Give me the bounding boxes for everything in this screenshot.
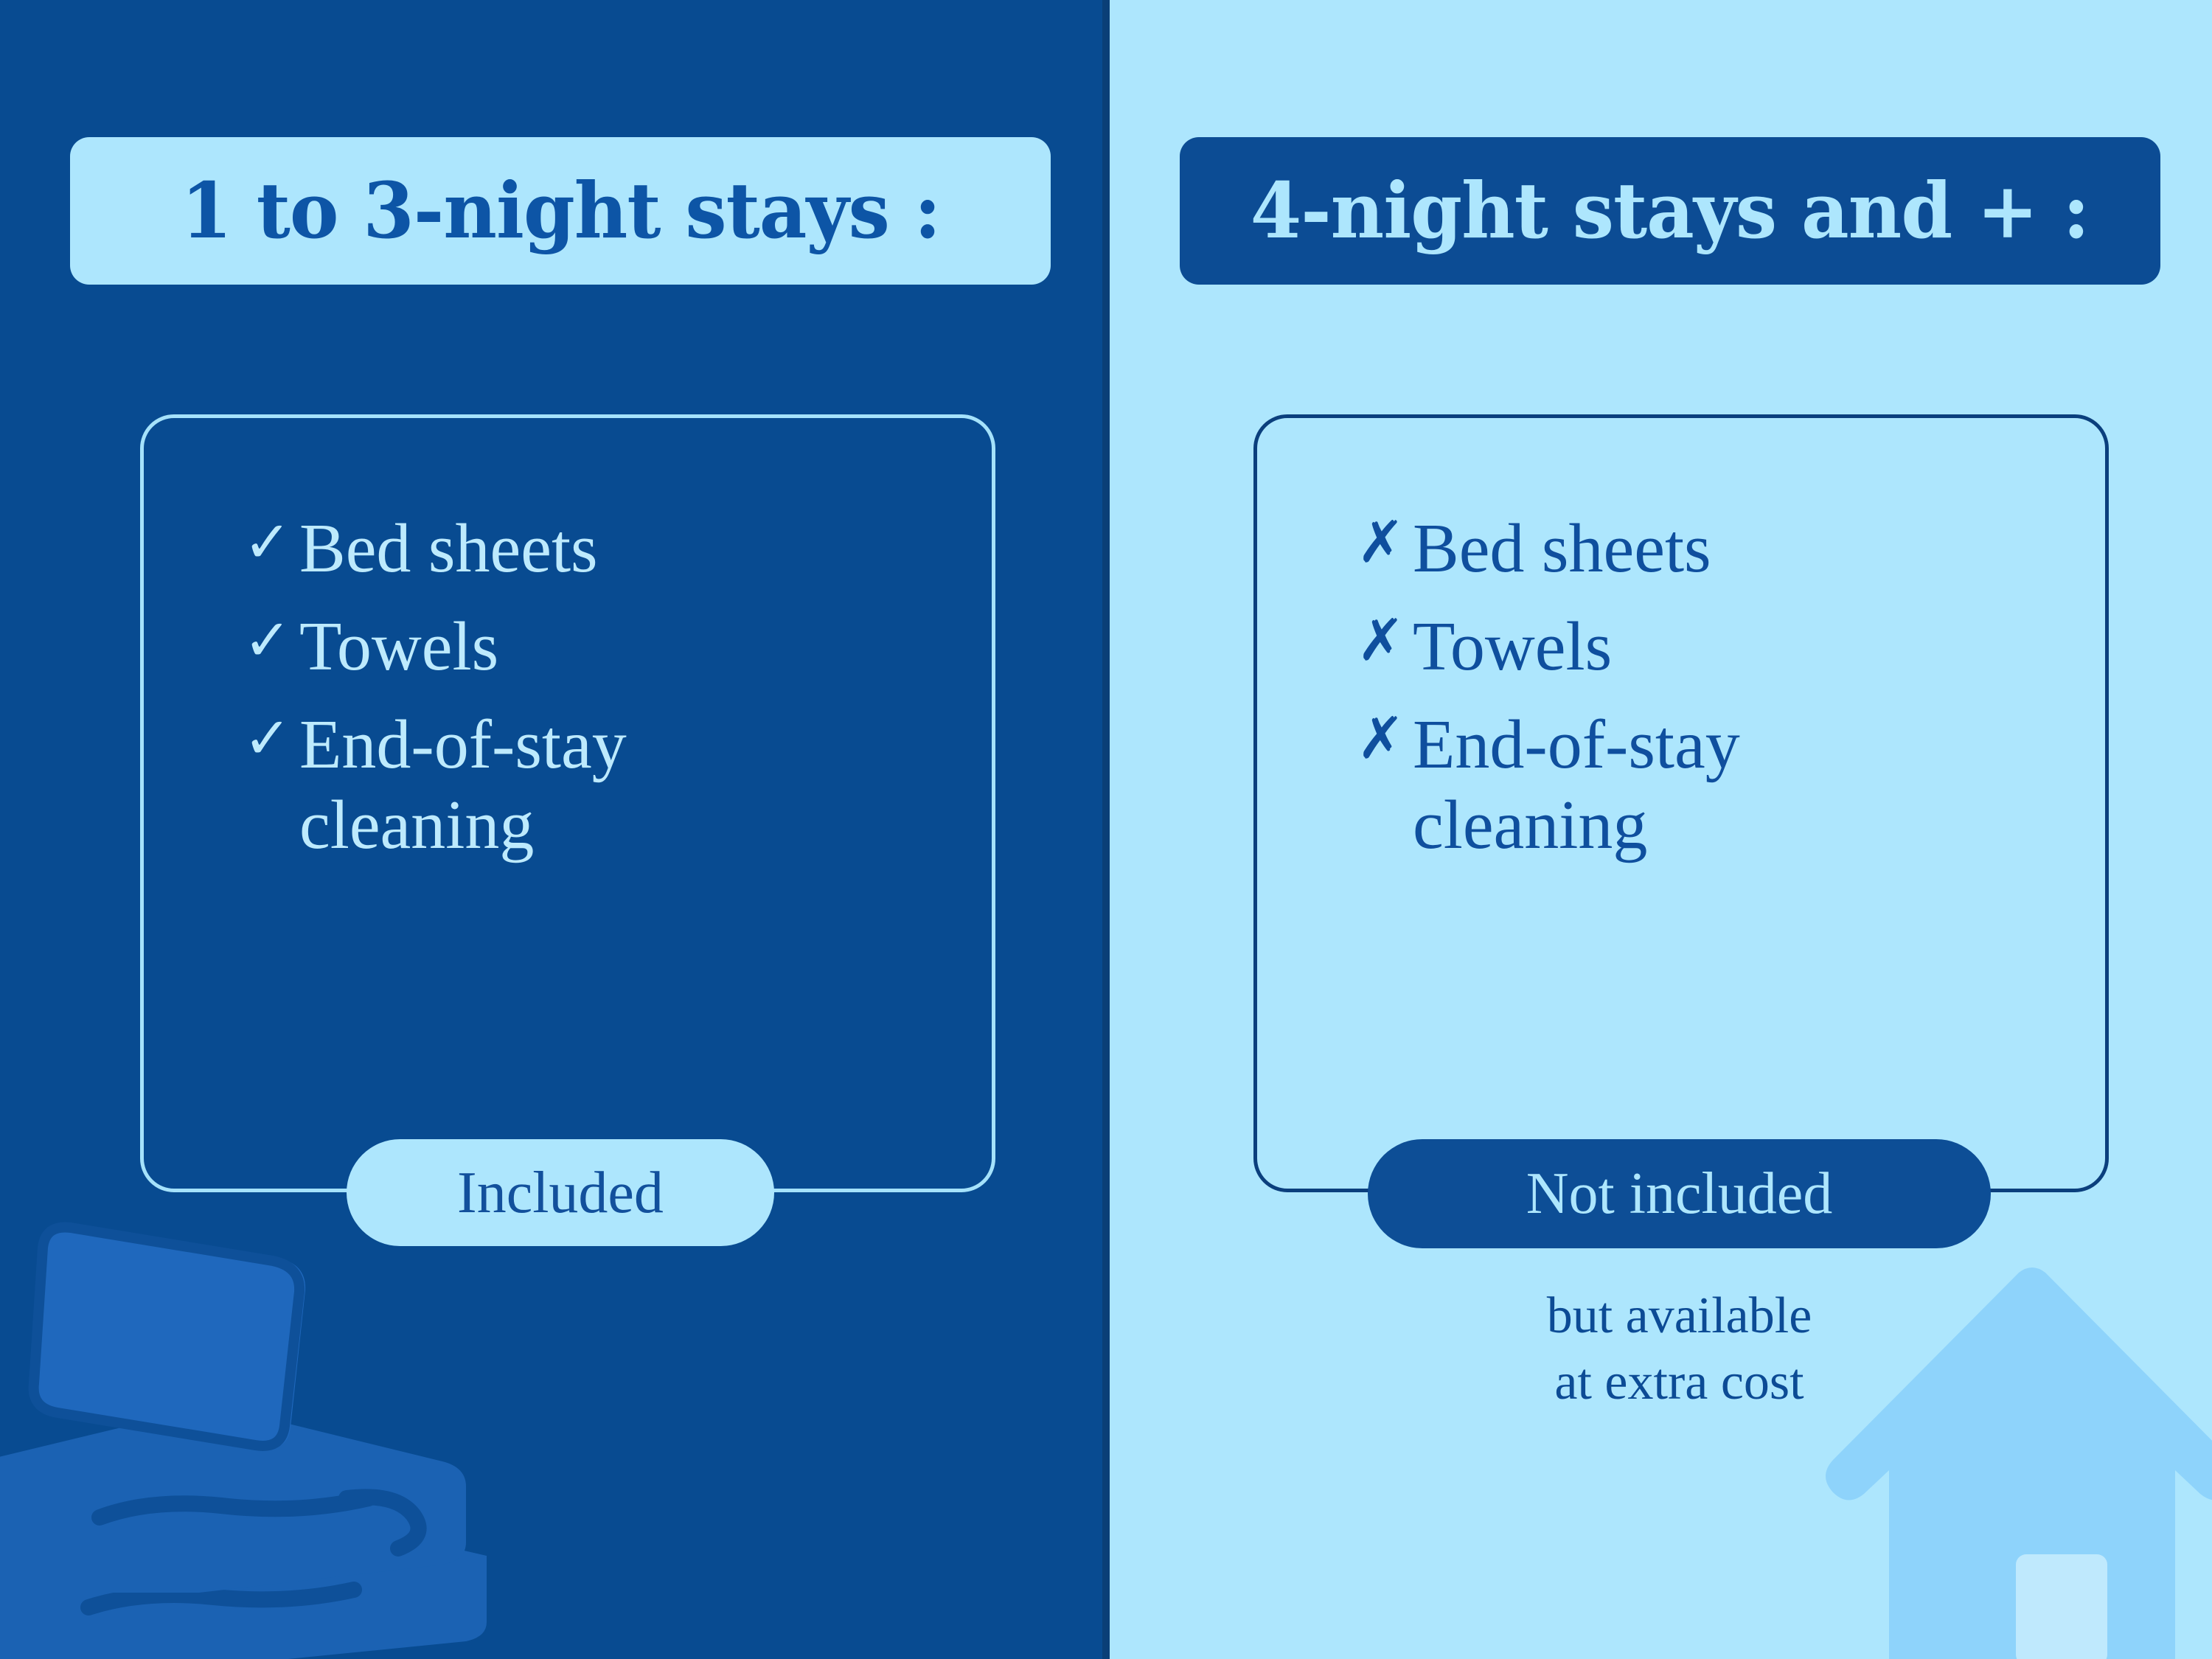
folded-linens-pillow-icon bbox=[0, 1209, 487, 1659]
list-item-label: Towels bbox=[1413, 607, 1612, 687]
header-title-left: 1 to 3-night stays : bbox=[181, 173, 940, 249]
feature-list-not-included: ✗ Bed sheets ✗ Towels ✗ End-of-stay clea… bbox=[1357, 509, 2065, 883]
cross-icon: ✗ bbox=[1357, 705, 1413, 773]
infographic-canvas: 1 to 3-night stays : ✓ Bed sheets ✓ Towe… bbox=[0, 0, 2212, 1659]
check-icon: ✓ bbox=[243, 705, 299, 773]
feature-list-included: ✓ Bed sheets ✓ Towels ✓ End-of-stay clea… bbox=[243, 509, 951, 883]
status-badge-not-included: Not included bbox=[1368, 1139, 1991, 1248]
list-item-label: End-of-stay cleaning bbox=[299, 705, 627, 866]
panel-short-stays: 1 to 3-night stays : ✓ Bed sheets ✓ Towe… bbox=[0, 0, 1110, 1659]
header-pill-short-stays: 1 to 3-night stays : bbox=[70, 137, 1051, 285]
list-item: ✓ End-of-stay cleaning bbox=[243, 705, 951, 866]
check-icon: ✓ bbox=[243, 509, 299, 577]
footnote-extra-cost: but available at extra cost bbox=[1368, 1283, 1991, 1415]
list-item: ✗ Bed sheets bbox=[1357, 509, 2065, 589]
panel-divider bbox=[1102, 0, 1110, 1659]
list-item: ✗ Towels bbox=[1357, 607, 2065, 687]
header-title-right: 4-night stays and + : bbox=[1251, 173, 2090, 249]
status-badge-included: Included bbox=[347, 1139, 774, 1246]
list-item-label: Bed sheets bbox=[1413, 509, 1711, 589]
list-item: ✓ Towels bbox=[243, 607, 951, 687]
list-item: ✓ Bed sheets bbox=[243, 509, 951, 589]
panel-long-stays: 4-night stays and + : ✗ Bed sheets ✗ Tow… bbox=[1110, 0, 2212, 1659]
check-icon: ✓ bbox=[243, 607, 299, 675]
list-item-label: Bed sheets bbox=[299, 509, 598, 589]
status-badge-label: Included bbox=[457, 1164, 664, 1222]
status-badge-label: Not included bbox=[1526, 1164, 1832, 1223]
list-item: ✗ End-of-stay cleaning bbox=[1357, 705, 2065, 866]
cross-icon: ✗ bbox=[1357, 509, 1413, 577]
list-item-label: End-of-stay cleaning bbox=[1413, 705, 1740, 866]
header-pill-long-stays: 4-night stays and + : bbox=[1180, 137, 2160, 285]
cross-icon: ✗ bbox=[1357, 607, 1413, 675]
list-item-label: Towels bbox=[299, 607, 498, 687]
